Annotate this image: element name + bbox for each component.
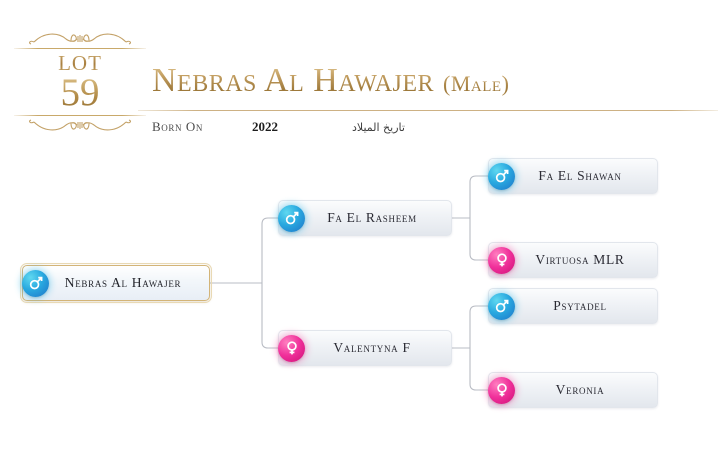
pedigree-node-sire-name: Fa El Rasheem <box>327 210 417 226</box>
male-symbol-icon <box>488 293 515 320</box>
pedigree-node-sire-sire-name: Fa El Shawan <box>538 168 621 184</box>
female-symbol-icon <box>278 335 305 362</box>
pedigree-node-sire[interactable]: Fa El Rasheem <box>278 200 452 236</box>
pedigree-node-dam-sire[interactable]: Psytadel <box>488 288 658 324</box>
pedigree-page: LOT 59 Nebras Al Hawajer (Male) <box>0 0 718 449</box>
title-divider <box>138 110 718 111</box>
pedigree-node-root[interactable]: Nebras Al Hawajer <box>22 265 210 301</box>
pedigree-node-dam-dam[interactable]: Veronia <box>488 372 658 408</box>
pedigree-tree: Nebras Al Hawajer Fa El Rasheem <box>0 150 718 410</box>
female-symbol-icon <box>488 247 515 274</box>
female-symbol-icon <box>488 377 515 404</box>
pedigree-node-dam-dam-name: Veronia <box>556 382 605 398</box>
born-on-label-arabic: تاريخ الميلاد <box>352 121 405 134</box>
male-symbol-icon <box>278 205 305 232</box>
pedigree-node-sire-sire[interactable]: Fa El Shawan <box>488 158 658 194</box>
page-title: Nebras Al Hawajer (Male) <box>152 62 712 100</box>
born-on-row: Born On 2022 تاريخ الميلاد <box>152 119 572 135</box>
horse-sex-label: (Male) <box>443 71 509 96</box>
lot-badge: LOT 59 <box>14 28 146 136</box>
pedigree-node-dam-sire-name: Psytadel <box>553 298 606 314</box>
born-on-label: Born On <box>152 119 252 135</box>
pedigree-node-sire-dam-name: Virtuosa MLR <box>535 252 624 268</box>
flourish-ornament-bottom-icon <box>14 116 146 136</box>
male-symbol-icon <box>488 163 515 190</box>
pedigree-node-dam[interactable]: Valentyna F <box>278 330 452 366</box>
born-on-value: 2022 <box>252 119 352 135</box>
pedigree-node-dam-name: Valentyna F <box>333 340 410 356</box>
pedigree-node-sire-dam[interactable]: Virtuosa MLR <box>488 242 658 278</box>
horse-name: Nebras Al Hawajer <box>152 62 434 99</box>
lot-number: 59 <box>14 74 146 115</box>
male-symbol-icon <box>22 270 49 297</box>
pedigree-node-root-name: Nebras Al Hawajer <box>65 275 181 291</box>
flourish-ornament-top-icon <box>14 28 146 48</box>
